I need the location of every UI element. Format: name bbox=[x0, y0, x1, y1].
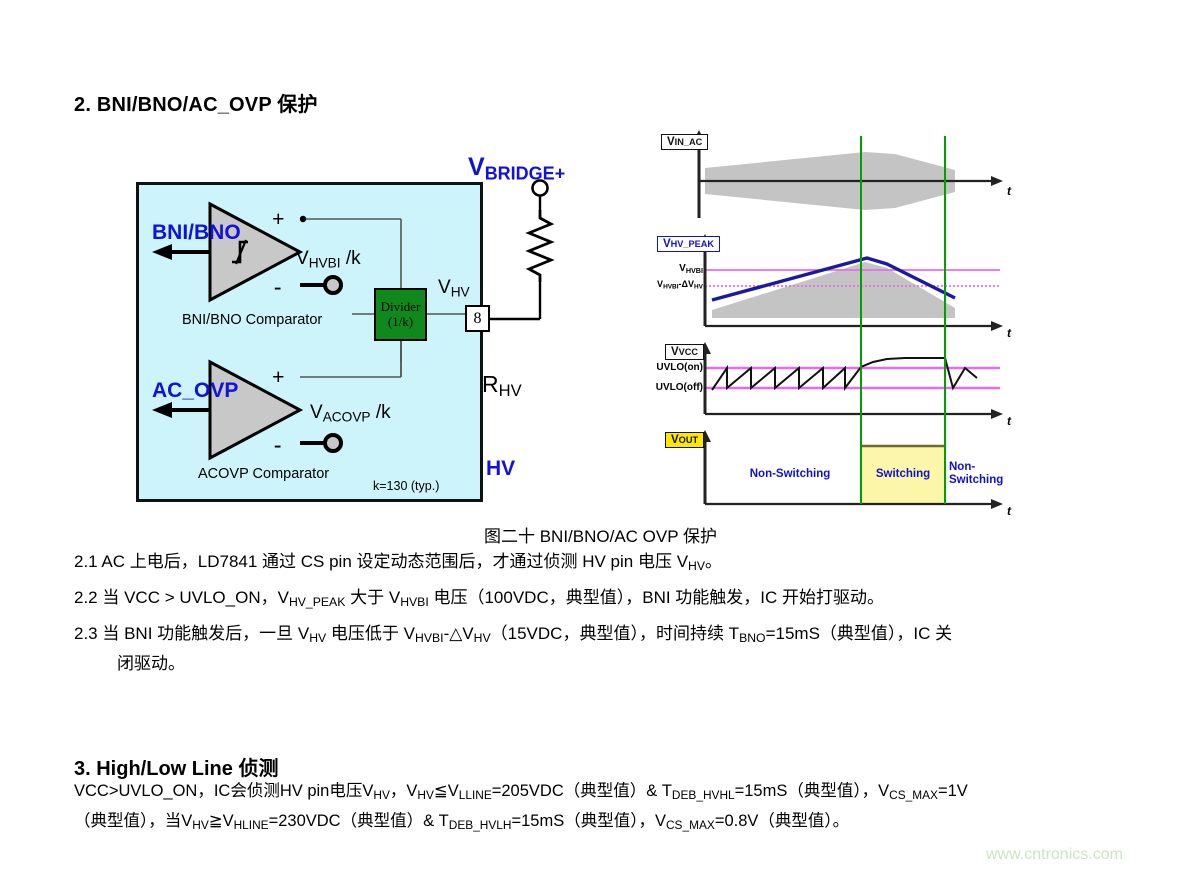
vhvbi-reference-source bbox=[325, 277, 341, 293]
acovp-minus-sign: - bbox=[274, 432, 281, 457]
section-2-heading: 2. BNI/BNO/AC_OVP 保护 bbox=[74, 88, 318, 117]
vhvbi-label-subscript: HVBI bbox=[686, 266, 703, 275]
vacovp-over-k: /k bbox=[371, 402, 391, 423]
p22-sub2: HVBI bbox=[400, 595, 429, 609]
vcc-tag-subscript: VCC bbox=[679, 347, 698, 357]
p3a-sub5: CS_MAX bbox=[889, 788, 938, 802]
ac-ovp-comparator-symbol bbox=[210, 362, 300, 458]
vbridge-label: VBRIDGE+ bbox=[468, 153, 565, 185]
p3b-a: （典型值），当V bbox=[74, 812, 192, 830]
vcc-waveform-tail bbox=[945, 358, 977, 388]
vhvbi-over-k-label: VHVBI /k bbox=[296, 248, 361, 270]
vcc-waveform-trace bbox=[712, 358, 945, 390]
p3b-sub3: DEB_HVLH bbox=[449, 818, 512, 832]
p23-sub3: HV bbox=[474, 631, 491, 645]
hv-pin-label: HV bbox=[486, 457, 515, 481]
divider-label-line2: (1/k) bbox=[388, 315, 413, 330]
vhv-peak-axis-arrow bbox=[991, 321, 1003, 331]
panel-tag-vhv-peak: VHV_PEAK bbox=[657, 236, 720, 252]
dvhv-label-sub2: HV bbox=[694, 284, 703, 291]
k-typical-note: k=130 (typ.) bbox=[373, 479, 439, 493]
figure-caption: 图二十 BNI/BNO/AC OVP 保护 bbox=[0, 522, 1201, 547]
p3a-d: =205VDC（典型值）& T bbox=[492, 782, 672, 800]
p3a-c: ≦V bbox=[434, 782, 459, 800]
vin-ac-tag-subscript: IN_AC bbox=[675, 137, 703, 147]
p22-a: 2.2 当 VCC > UVLO_ON，V bbox=[74, 588, 289, 607]
rhv-label: RHV bbox=[482, 371, 522, 401]
paragraph-3-line1: VCC>UVLO_ON，IC会侦测HV pin电压VHV，VHV≦VLLINE=… bbox=[74, 782, 968, 802]
acovp-comparator-caption: ACOVP Comparator bbox=[198, 466, 329, 482]
divider-label-line1: Divider bbox=[381, 300, 421, 315]
p3a-sub3: LLINE bbox=[459, 788, 492, 802]
p3a-a: VCC>UVLO_ON，IC会侦测HV pin电压V bbox=[74, 782, 373, 800]
p3b-c: =230VDC（典型值）& T bbox=[269, 812, 449, 830]
region-label-non-switching-2: Non-Switching bbox=[949, 461, 1015, 487]
p21-sub: HV bbox=[688, 559, 705, 573]
vhvbi-label-v: V bbox=[679, 263, 686, 274]
rhv-subscript: HV bbox=[499, 381, 522, 400]
p3a-sub4: DEB_HVHL bbox=[672, 788, 735, 802]
p23-e: =15mS（典型值），IC 关 bbox=[766, 624, 953, 643]
site-watermark: www.cntronics.com bbox=[986, 846, 1123, 864]
vout-tag-subscript: OUT bbox=[679, 435, 698, 445]
vcc-axis-arrow bbox=[991, 409, 1003, 419]
p22-c: 电压（100VDC，典型值），BNI 功能触发，IC 开始打驱动。 bbox=[429, 588, 884, 607]
p23-sub4: BNO bbox=[739, 631, 766, 645]
bni-minus-sign: - bbox=[274, 274, 281, 299]
p3b-sub2: HLINE bbox=[234, 818, 269, 832]
p23-sub2: HVBI bbox=[415, 631, 444, 645]
region-label-switching: Switching bbox=[867, 468, 939, 481]
section-3-heading: 3. High/Low Line 侦测 bbox=[74, 752, 278, 781]
paragraph-2-3-line2: 闭驱动。 bbox=[117, 655, 185, 674]
paragraph-2-3-line1: 2.3 当 BNI 功能触发后，一旦 VHV 电压低于 VHVBI-△VHV（1… bbox=[74, 625, 952, 646]
dvhv-label-sub1: HVBI bbox=[663, 284, 678, 291]
bni-output-arrow bbox=[152, 244, 172, 260]
p3a-sub1: HV bbox=[373, 788, 390, 802]
rhv-r: R bbox=[482, 371, 499, 397]
pin-8-box: 8 bbox=[465, 305, 490, 332]
vhv-peak-tag-v: V bbox=[663, 238, 671, 250]
timing-waveforms-svg bbox=[655, 122, 1027, 514]
paragraph-3-line2: （典型值），当VHV≧VHLINE=230VDC（典型值）& TDEB_HVLH… bbox=[74, 812, 849, 832]
p3a-b: ，V bbox=[390, 782, 418, 800]
threshold-label-vhvbi-minus-dvhv: VHVBI-ΔVHV bbox=[647, 279, 703, 291]
p23-d: （15VDC，典型值），时间持续 T bbox=[491, 624, 739, 643]
ac-ovp-label: AC_OVP bbox=[152, 379, 238, 403]
p3b-e: =0.8V（典型值）。 bbox=[715, 812, 849, 830]
panel-tag-vout: VOUT bbox=[665, 432, 704, 448]
p22-b: 大于 V bbox=[345, 588, 400, 607]
vbridge-v: V bbox=[468, 153, 485, 181]
vacovp-v: V bbox=[310, 402, 323, 423]
rhv-resistor-symbol bbox=[529, 210, 551, 282]
axis-label-t-panel3: t bbox=[1007, 414, 1011, 428]
p3b-b: ≧V bbox=[209, 812, 234, 830]
p22-sub1: HV_PEAK bbox=[289, 595, 345, 609]
panel-tag-vcc: VVCC bbox=[665, 344, 704, 360]
bni-plus-sign: + bbox=[272, 206, 285, 231]
vhv-subscript: HV bbox=[451, 284, 470, 299]
paragraph-2-2: 2.2 当 VCC > UVLO_ON，VHV_PEAK 大于 VHVBI 电压… bbox=[74, 589, 884, 610]
p3a-sub2: HV bbox=[417, 788, 434, 802]
pin-8-number: 8 bbox=[474, 310, 482, 328]
p3b-d: =15mS（典型值），V bbox=[511, 812, 666, 830]
bni-comparator-caption: BNI/BNO Comparator bbox=[182, 312, 322, 328]
vcc-tag-v: V bbox=[671, 346, 679, 358]
vhvbi-v: V bbox=[296, 248, 309, 269]
threshold-label-uvlo-off: UVLO(off) bbox=[643, 382, 703, 393]
vacovp-reference-source bbox=[325, 435, 341, 451]
axis-label-t-panel1: t bbox=[1007, 184, 1011, 198]
p23-sub1: HV bbox=[309, 631, 326, 645]
p23-b: 电压低于 V bbox=[326, 624, 415, 643]
vin-ac-axis-arrow bbox=[991, 176, 1003, 186]
paragraph-2-1: 2.1 AC 上电后，LD7841 通过 CS pin 设定动态范围后，才通过侦… bbox=[74, 553, 722, 574]
region-label-non-switching-1: Non-Switching bbox=[735, 468, 845, 481]
vhv-node-label: VHV bbox=[438, 277, 470, 299]
vacovp-over-k-label: VACOVP /k bbox=[310, 402, 391, 424]
vhvbi-over-k: /k bbox=[341, 248, 361, 269]
circuit-diagram: + - + - Divider (1/k) 8 VBRIDGE+ BNI/BNO… bbox=[120, 130, 590, 520]
p21-post: 。 bbox=[705, 552, 722, 571]
p3a-f: =1V bbox=[938, 782, 968, 800]
bni-bno-comparator-symbol bbox=[210, 204, 300, 300]
p3b-sub4: CS_MAX bbox=[666, 818, 715, 832]
divider-block: Divider (1/k) bbox=[374, 288, 427, 341]
threshold-label-vhvbi: VHVBI bbox=[655, 263, 703, 275]
vacovp-subscript: ACOVP bbox=[323, 409, 371, 424]
vbridge-subscript: BRIDGE+ bbox=[485, 164, 566, 184]
timing-diagram: VIN_AC VHV_PEAK VVCC VOUT VHVBI VHVBI-ΔV… bbox=[655, 122, 1027, 514]
bni-plus-junction bbox=[300, 216, 306, 222]
bni-bno-label: BNI/BNO bbox=[152, 221, 241, 245]
p23-a: 2.3 当 BNI 功能触发后，一旦 V bbox=[74, 624, 309, 643]
panel-tag-vin-ac: VIN_AC bbox=[661, 134, 708, 150]
vout-axis-arrow bbox=[991, 499, 1003, 509]
acovp-plus-sign: + bbox=[272, 364, 285, 389]
axis-label-t-panel4: t bbox=[1007, 504, 1011, 518]
p23-c: -△V bbox=[444, 624, 474, 643]
threshold-label-uvlo-on: UVLO(on) bbox=[645, 362, 703, 373]
axis-label-t-panel2: t bbox=[1007, 326, 1011, 340]
vhv-v: V bbox=[438, 277, 451, 298]
p21-pre: 2.1 AC 上电后，LD7841 通过 CS pin 设定动态范围后，才通过侦… bbox=[74, 552, 688, 571]
vhv-peak-tag-subscript: HV_PEAK bbox=[671, 239, 714, 249]
acovp-output-arrow bbox=[152, 402, 172, 418]
vhvbi-subscript: HVBI bbox=[309, 255, 341, 270]
vin-ac-tag-v: V bbox=[667, 136, 675, 148]
p3b-sub1: HV bbox=[192, 818, 209, 832]
p3a-e: =15mS（典型值），V bbox=[735, 782, 890, 800]
dvhv-label-mid: -ΔV bbox=[679, 279, 694, 289]
vout-tag-v: V bbox=[671, 434, 679, 446]
